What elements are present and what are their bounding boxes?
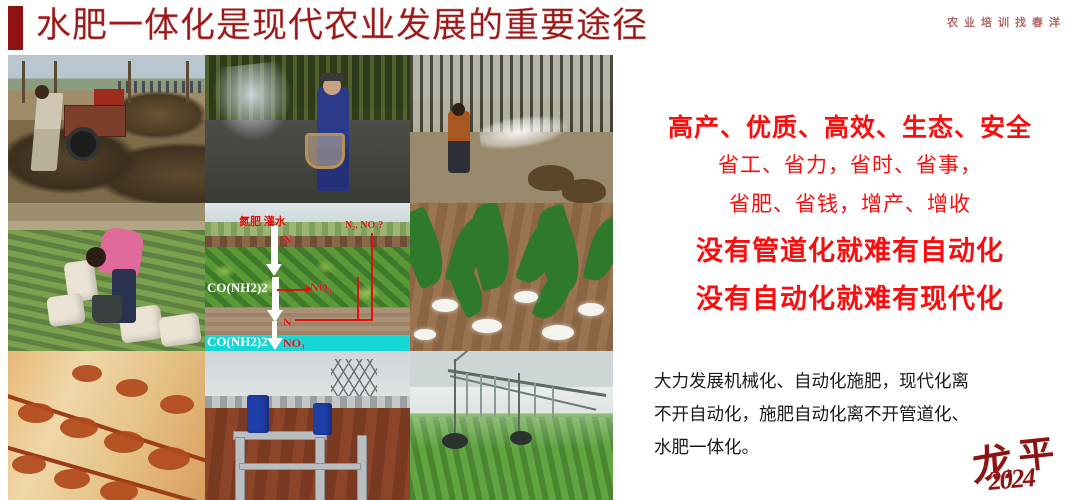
worker-with-hose [448,111,470,173]
photo-broadcast-fertilizing [205,55,410,203]
photo-bagging-fertilizer [8,203,205,351]
benefit-line-1: 高产、优质、高效、生态、安全 [625,108,1075,144]
fertilizer-basket [305,133,345,169]
photo-hose-flood-irrigation [410,55,613,203]
scattered-fertilizer-spray [205,58,327,189]
pivot-leg-mid [518,373,520,439]
white-arrow-mid [272,277,279,311]
white-arrow-low [272,321,277,339]
page-title: 水肥一体化是现代农业发展的重要途径 [36,4,648,48]
fertilizer-bucket [92,295,122,323]
photo-center-pivot-irrigation [410,351,613,500]
diagram-subsoil [205,307,410,335]
summary-line-1: 大力发展机械化、自动化施肥，现代化离 [654,365,1032,398]
pivot-wheel-mid [510,431,532,445]
diagram-label-top: 氮肥 灌水 [239,217,286,228]
slogan-line-2: 没有自动化就难有现代化 [625,277,1075,316]
photo-drip-irrigation-lines [8,351,205,500]
pivot-leg-left [454,359,456,441]
field-path [8,221,205,230]
woman-head [86,247,106,267]
title-accent-bar [8,6,23,50]
red-line-up-right [371,233,373,319]
diagram-label-gas: N₂, NO₃? [345,221,383,231]
photo-corn-field-fertilizer-piles [410,203,613,351]
photo-nitrogen-leaching-diagram: 氮肥 灌水 N N₂, NO₃? CO(NH2)2 NO₃ N CO(NH2)2… [205,203,410,351]
farmer-cap [320,73,344,81]
diagram-soil-strip [205,236,410,248]
lower-manifold [239,463,361,470]
cart-wheel [66,127,100,161]
photo-manure-spreading [8,55,205,203]
photo-montage: 氮肥 灌水 N N₂, NO₃? CO(NH2)2 NO₃ N CO(NH2)2… [8,55,613,500]
farmer-figure [31,93,64,171]
slogan-line-1: 没有管道化就难有自动化 [625,229,1075,268]
pivot-wheel-left [442,433,468,449]
slide-header: 水肥一体化是现代农业发展的重要途径 农业培训找春洋 [0,0,1080,52]
slide-root: 水肥一体化是现代农业发展的重要途径 农业培训找春洋 [0,0,1080,500]
diagram-label-n-top: N [283,233,292,245]
photo-valve-filter-station [205,351,410,500]
red-line-up-inner [357,277,359,319]
red-line-nitrate [277,289,307,291]
diagram-label-n-lower: N [283,316,292,328]
signature-seal-watermark: 龙 平 2024 [966,420,1078,500]
diagram-label-urea-lower: CO(NH2)2 [207,335,268,348]
valve-body-left [247,395,269,433]
pivot-a-frame [453,351,496,363]
diagram-label-urea-upper: CO(NH2)2 [207,281,268,294]
red-line-return [295,319,373,321]
worker-head [452,103,465,116]
seal-year: 2024 [987,462,1036,497]
diagram-crop-canopy [205,247,410,306]
diagram-label-nitrate-upper: NO₃ [310,281,332,293]
valve-body-right [313,403,332,435]
white-arrow-top [271,225,278,265]
farmer-head [35,85,49,99]
diagram-label-nitrate-lower: NO₃ [283,337,305,349]
benefit-line-3: 省肥、省钱，增产、增收 [625,188,1075,218]
village-houses [205,396,410,408]
benefit-line-2: 省工、省力，省时、省事， [625,149,1075,179]
top-watermark: 农业培训找春洋 [947,14,1066,30]
